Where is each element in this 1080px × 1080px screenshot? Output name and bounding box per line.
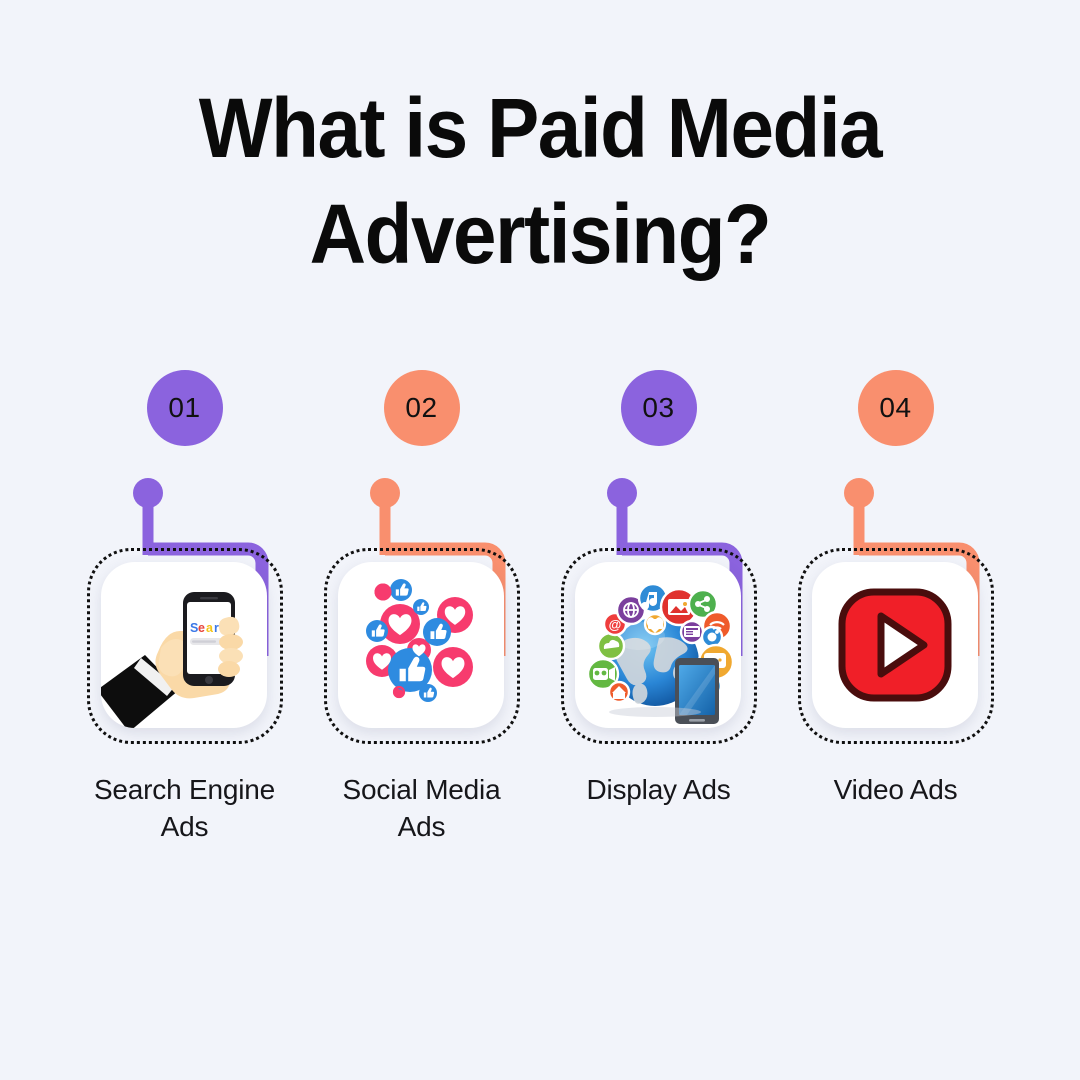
search-engine-ads-illustration: S e a r c h	[101, 562, 267, 728]
title-line-1: What is Paid Media	[38, 76, 1042, 182]
display-ads-illustration: @	[575, 562, 741, 728]
svg-text:e: e	[198, 621, 205, 635]
step-card-4[interactable]	[798, 548, 994, 744]
video-ads-illustration	[812, 562, 978, 728]
step-card-2[interactable]	[324, 548, 520, 744]
step-label-1: Search Engine Ads	[52, 772, 317, 846]
step-card-3[interactable]: @	[561, 548, 757, 744]
step-item-3[interactable]: 03	[540, 370, 777, 890]
step-number-badge-1: 01	[147, 370, 223, 446]
title-line-2: Advertising?	[38, 182, 1042, 288]
svg-text:a: a	[206, 621, 214, 635]
step-number-badge-2: 02	[384, 370, 460, 446]
step-item-4[interactable]: 04 Video Ads	[777, 370, 1014, 890]
step-item-2[interactable]: 02	[303, 370, 540, 890]
step-label-2: Social Media Ads	[289, 772, 554, 846]
step-label-4: Video Ads	[763, 772, 1028, 809]
step-label-line: Video Ads	[763, 772, 1028, 809]
step-number-badge-4: 04	[858, 370, 934, 446]
social-media-ads-illustration	[338, 562, 504, 728]
step-label-3: Display Ads	[526, 772, 791, 809]
step-label-line: Display Ads	[526, 772, 791, 809]
step-label-line: Social Media Ads	[289, 772, 554, 846]
svg-text:@: @	[608, 617, 621, 632]
steps-row: 01	[0, 370, 1080, 890]
step-item-1[interactable]: 01	[66, 370, 303, 890]
page-title: What is Paid Media Advertising?	[0, 76, 1080, 288]
step-label-line: Search Engine Ads	[52, 772, 317, 846]
step-card-1[interactable]: S e a r c h	[87, 548, 283, 744]
step-number-badge-3: 03	[621, 370, 697, 446]
